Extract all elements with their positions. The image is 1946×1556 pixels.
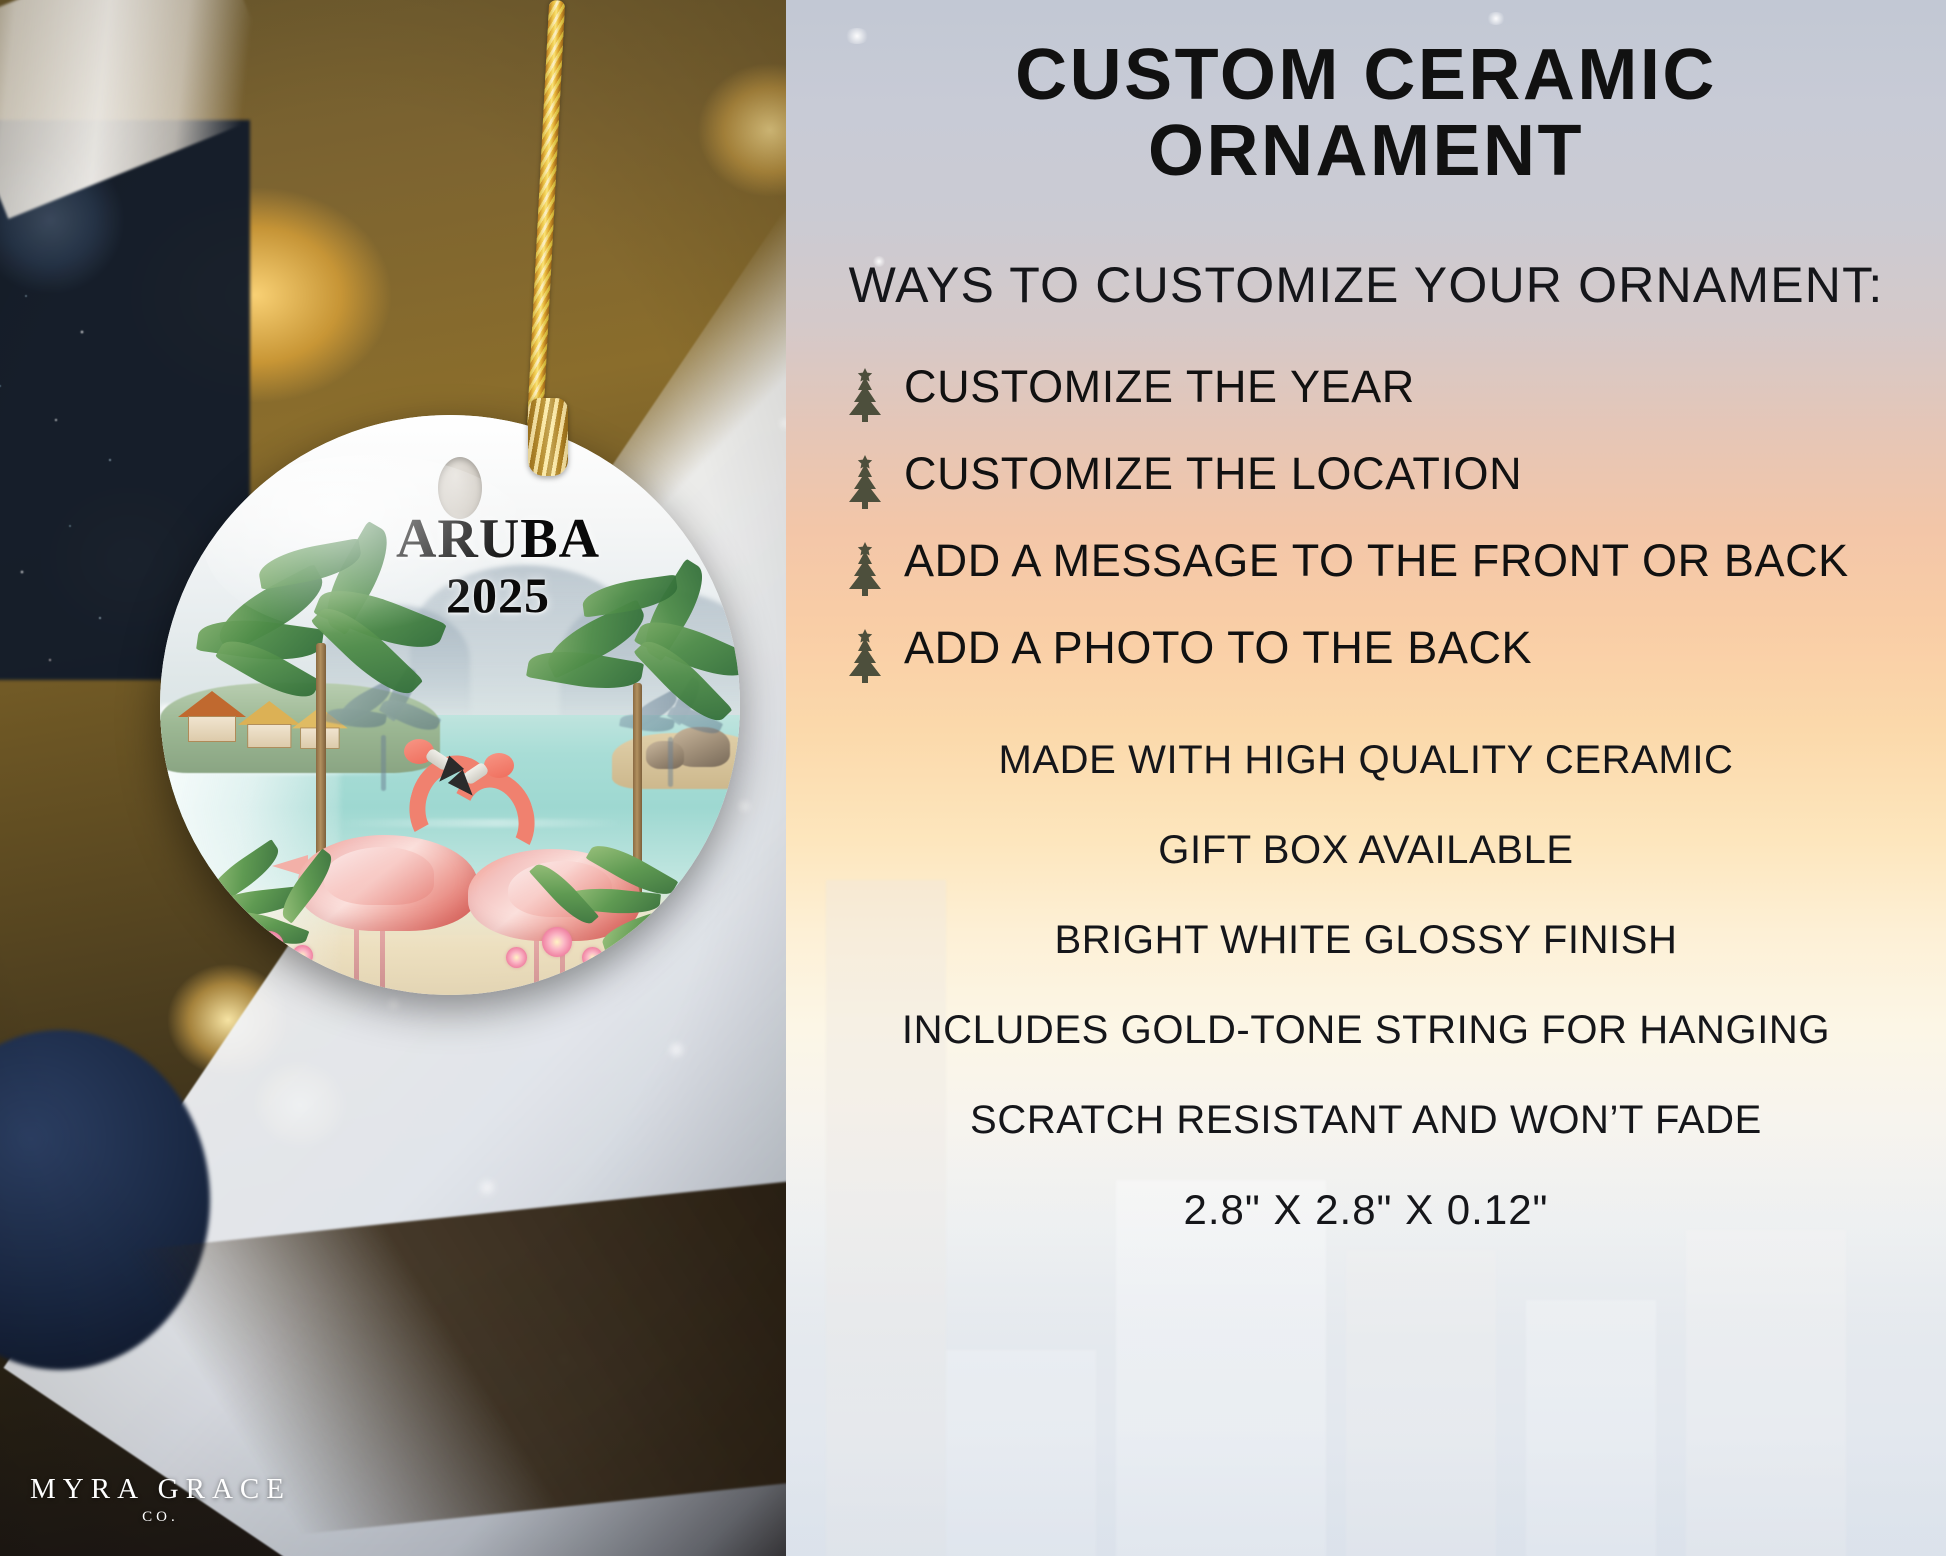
watermark-brand-name: MYRA GRACE xyxy=(30,1473,291,1506)
pink-flower xyxy=(542,927,572,957)
list-item-label: CUSTOMIZE THE YEAR xyxy=(904,362,1415,412)
list-item-label: ADD A MESSAGE TO THE FRONT OR BACK xyxy=(904,536,1849,586)
watermark-brand-suffix: CO. xyxy=(30,1509,291,1526)
customization-list: CUSTOMIZE THE YEAR CUSTOMIZE THE LOCATIO… xyxy=(822,362,1910,688)
gold-string-knot xyxy=(528,398,568,476)
feature-item: INCLUDES GOLD-TONE STRING FOR HANGING xyxy=(822,1006,1910,1054)
list-item: ADD A PHOTO TO THE BACK xyxy=(844,623,1910,688)
ornament-disc: ARUBA 2025 xyxy=(160,415,740,995)
ornament-year-text: 2025 xyxy=(348,567,648,624)
feature-item: MADE WITH HIGH QUALITY CERAMIC xyxy=(822,736,1910,784)
pink-flower xyxy=(254,931,284,961)
ornament-location-text: ARUBA xyxy=(348,511,648,567)
product-photo-panel: ARUBA 2025 MYRA GRACE CO. xyxy=(0,0,786,1556)
tropical-leaf xyxy=(274,848,339,923)
product-info-panel: CUSTOM CERAMIC ORNAMENT WAYS TO CUSTOMIZ… xyxy=(786,0,1946,1556)
pink-flower xyxy=(292,945,313,966)
list-item: CUSTOMIZE THE YEAR xyxy=(844,362,1910,427)
flamingo-head xyxy=(484,753,514,778)
ornament-text-block: ARUBA 2025 xyxy=(348,511,648,624)
christmas-tree-icon xyxy=(844,449,890,514)
christmas-tree-icon xyxy=(844,623,890,688)
product-listing-image: ARUBA 2025 MYRA GRACE CO. CUSTOM CERAMIC… xyxy=(0,0,1946,1556)
list-item-label: ADD A PHOTO TO THE BACK xyxy=(904,623,1532,673)
page-title: CUSTOM CERAMIC ORNAMENT xyxy=(822,38,1910,189)
christmas-tree-icon xyxy=(844,536,890,601)
sparkle xyxy=(1486,12,1506,25)
list-item: ADD A MESSAGE TO THE FRONT OR BACK xyxy=(844,536,1910,601)
christmas-tree-icon xyxy=(844,362,890,427)
feature-item: SCRATCH RESISTANT AND WON’T FADE xyxy=(822,1096,1910,1144)
foreground-foliage-right xyxy=(490,835,730,990)
foreground-foliage-left xyxy=(200,835,410,985)
feature-item: BRIGHT WHITE GLOSSY FINISH xyxy=(822,916,1910,964)
product-dimensions: 2.8" X 2.8" X 0.12" xyxy=(822,1186,1910,1234)
brand-watermark: MYRA GRACE CO. xyxy=(30,1473,291,1526)
pink-flower xyxy=(506,947,527,968)
list-item: CUSTOMIZE THE LOCATION xyxy=(844,449,1910,514)
ceramic-ornament: ARUBA 2025 xyxy=(140,0,700,1010)
pink-flower xyxy=(582,947,603,968)
gold-hanging-string xyxy=(527,0,565,430)
yellow-flower xyxy=(226,947,247,968)
feature-list: MADE WITH HIGH QUALITY CERAMIC GIFT BOX … xyxy=(822,736,1910,1234)
list-item-label: CUSTOMIZE THE LOCATION xyxy=(904,449,1522,499)
feature-item: GIFT BOX AVAILABLE xyxy=(822,826,1910,874)
customize-subtitle: WAYS TO CUSTOMIZE YOUR ORNAMENT: xyxy=(822,255,1910,316)
